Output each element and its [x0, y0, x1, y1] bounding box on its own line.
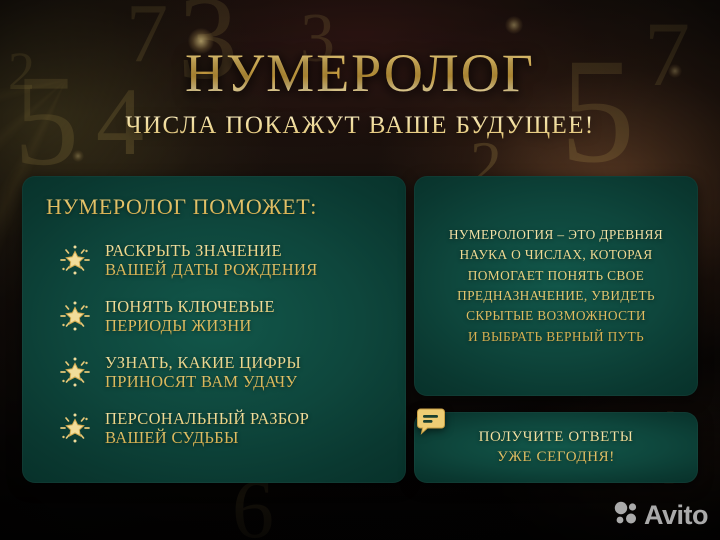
avito-watermark: Avito	[613, 500, 708, 531]
benefit-label: ПЕРСОНАЛЬНЫЙ РАЗБОР ВАШЕЙ СУДЬБЫ	[105, 409, 309, 447]
benefits-list: РАСКРЫТЬ ЗНАЧЕНИЕ ВАШЕЙ ДАТЫ РОЖДЕНИЯ	[22, 220, 406, 456]
star-sparkle-icon	[58, 411, 92, 445]
cta-card-text: ПОЛУЧИТЕ ОТВЕТЫ УЖЕ СЕГОДНЯ!	[479, 428, 634, 468]
page-subtitle: ЧИСЛА ПОКАЖУТ ВАШЕ БУДУЩЕЕ!	[0, 112, 720, 140]
about-card: НУМЕРОЛОГИЯ – ЭТО ДРЕВНЯЯ НАУКА О ЧИСЛАХ…	[414, 176, 698, 396]
benefit-label: РАСКРЫТЬ ЗНАЧЕНИЕ ВАШЕЙ ДАТЫ РОЖДЕНИЯ	[105, 241, 318, 279]
numerology-ad-poster: 5 4 2 7 3 5 7 2 3 4 8 6 НУМЕРОЛОГ ЧИСЛА …	[0, 0, 720, 540]
benefits-card: НУМЕРОЛОГ ПОМОЖЕТ:	[22, 176, 406, 483]
list-item: ПЕРСОНАЛЬНЫЙ РАЗБОР ВАШЕЙ СУДЬБЫ	[22, 400, 406, 456]
benefits-card-heading: НУМЕРОЛОГ ПОМОЖЕТ:	[22, 176, 406, 220]
benefit-label: УЗНАТЬ, КАКИЕ ЦИФРЫ ПРИНОСЯТ ВАМ УДАЧУ	[105, 353, 301, 391]
star-sparkle-icon	[58, 243, 92, 277]
avito-logo-icon	[613, 500, 639, 531]
chat-bubble-icon	[416, 406, 446, 436]
avito-wordmark: Avito	[644, 502, 708, 529]
star-sparkle-icon	[58, 355, 92, 389]
star-sparkle-icon	[58, 299, 92, 333]
benefit-label: ПОНЯТЬ КЛЮЧЕВЫЕ ПЕРИОДЫ ЖИЗНИ	[105, 297, 275, 335]
list-item: РАСКРЫТЬ ЗНАЧЕНИЕ ВАШЕЙ ДАТЫ РОЖДЕНИЯ	[22, 232, 406, 288]
cta-card[interactable]: ПОЛУЧИТЕ ОТВЕТЫ УЖЕ СЕГОДНЯ!	[414, 412, 698, 483]
about-card-text: НУМЕРОЛОГИЯ – ЭТО ДРЕВНЯЯ НАУКА О ЧИСЛАХ…	[437, 225, 675, 347]
list-item: ПОНЯТЬ КЛЮЧЕВЫЕ ПЕРИОДЫ ЖИЗНИ	[22, 288, 406, 344]
page-title: НУМЕРОЛОГ	[0, 42, 720, 104]
list-item: УЗНАТЬ, КАКИЕ ЦИФРЫ ПРИНОСЯТ ВАМ УДАЧУ	[22, 344, 406, 400]
poster-header: НУМЕРОЛОГ ЧИСЛА ПОКАЖУТ ВАШЕ БУДУЩЕЕ!	[0, 42, 720, 140]
